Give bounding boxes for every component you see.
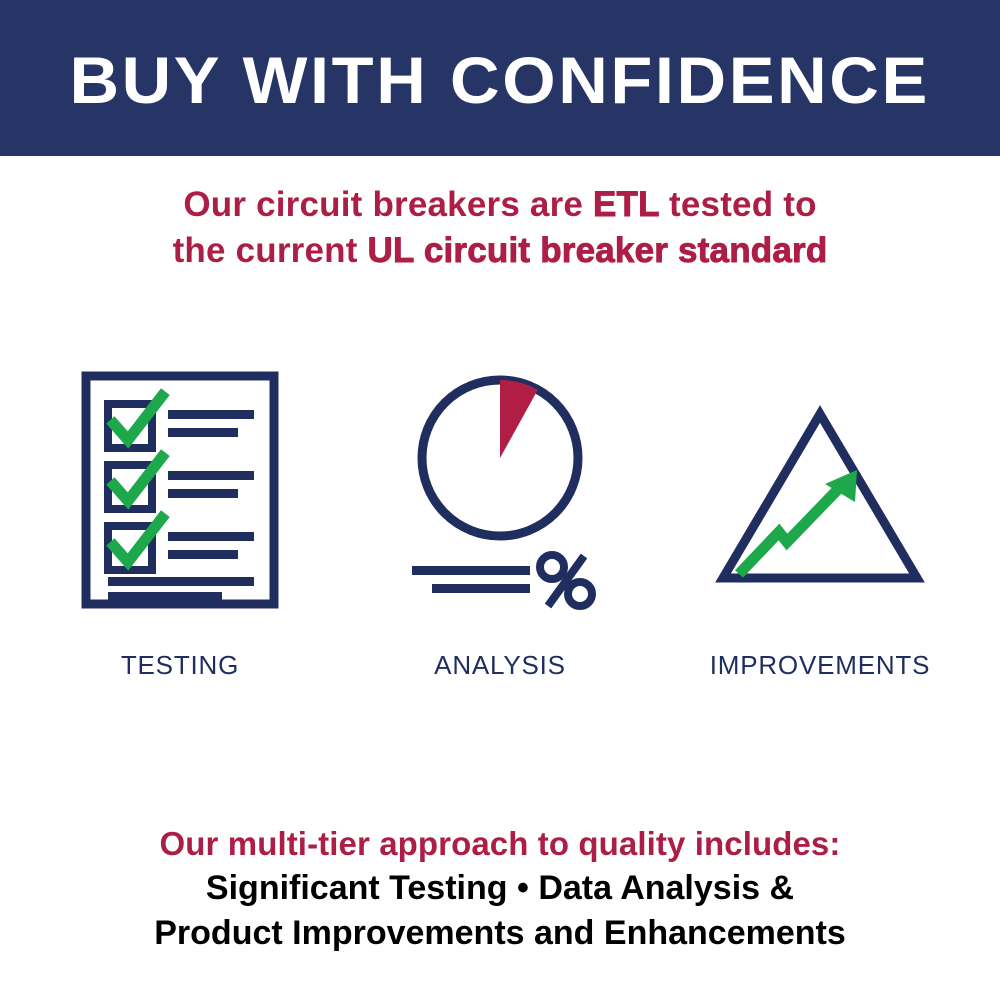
subtitle-text-2: tested to xyxy=(659,185,817,224)
text-line-5 xyxy=(108,592,222,601)
subtitle-emphasis-etl: ETL xyxy=(593,185,659,224)
header-banner: BUY WITH CONFIDENCE xyxy=(0,0,1000,156)
text-line-1a xyxy=(168,410,254,419)
icon-label-analysis: ANALYSIS xyxy=(350,648,650,682)
text-line-1b xyxy=(168,428,238,437)
icon-cell-improvements xyxy=(670,370,970,630)
triangle-growth-arrow-icon xyxy=(705,370,935,610)
subtitle-text-3: the current xyxy=(173,231,368,270)
icon-label-improvements: IMPROVEMENTS xyxy=(670,648,970,682)
percent-symbol-icon xyxy=(540,555,592,606)
footer-lead-line: Our multi-tier approach to quality inclu… xyxy=(0,822,1000,866)
icon-labels-row: TESTING ANALYSIS IMPROVEMENTS xyxy=(0,648,1000,688)
checklist-document-icon xyxy=(80,370,280,610)
footer-text-block: Our multi-tier approach to quality inclu… xyxy=(0,822,1000,956)
icon-label-testing: TESTING xyxy=(30,648,330,682)
icon-row xyxy=(0,370,1000,630)
footer-body-line-2: Product Improvements and Enhancements xyxy=(0,911,1000,956)
subtitle-line-2: the current UL circuit breaker standard xyxy=(0,228,1000,274)
text-line-4 xyxy=(108,577,254,586)
text-line-2a xyxy=(168,471,254,480)
text-line-2b xyxy=(168,489,238,498)
subtitle-block: Our circuit breakers are ETL tested to t… xyxy=(0,182,1000,274)
icon-cell-analysis xyxy=(350,370,650,630)
text-line-3a xyxy=(168,532,254,541)
stat-bar-2 xyxy=(432,584,530,593)
footer-body-line-1: Significant Testing • Data Analysis & xyxy=(0,866,1000,911)
subtitle-text-1: Our circuit breakers are xyxy=(183,185,593,224)
subtitle-emphasis-ul-standard: UL circuit breaker standard xyxy=(368,231,828,270)
subtitle-line-1: Our circuit breakers are ETL tested to xyxy=(0,182,1000,228)
icon-cell-testing xyxy=(30,370,330,630)
stat-bar-1 xyxy=(412,566,530,575)
text-line-3b xyxy=(168,550,238,559)
page-title: BUY WITH CONFIDENCE xyxy=(70,43,930,113)
pie-chart-percent-icon xyxy=(400,370,600,610)
